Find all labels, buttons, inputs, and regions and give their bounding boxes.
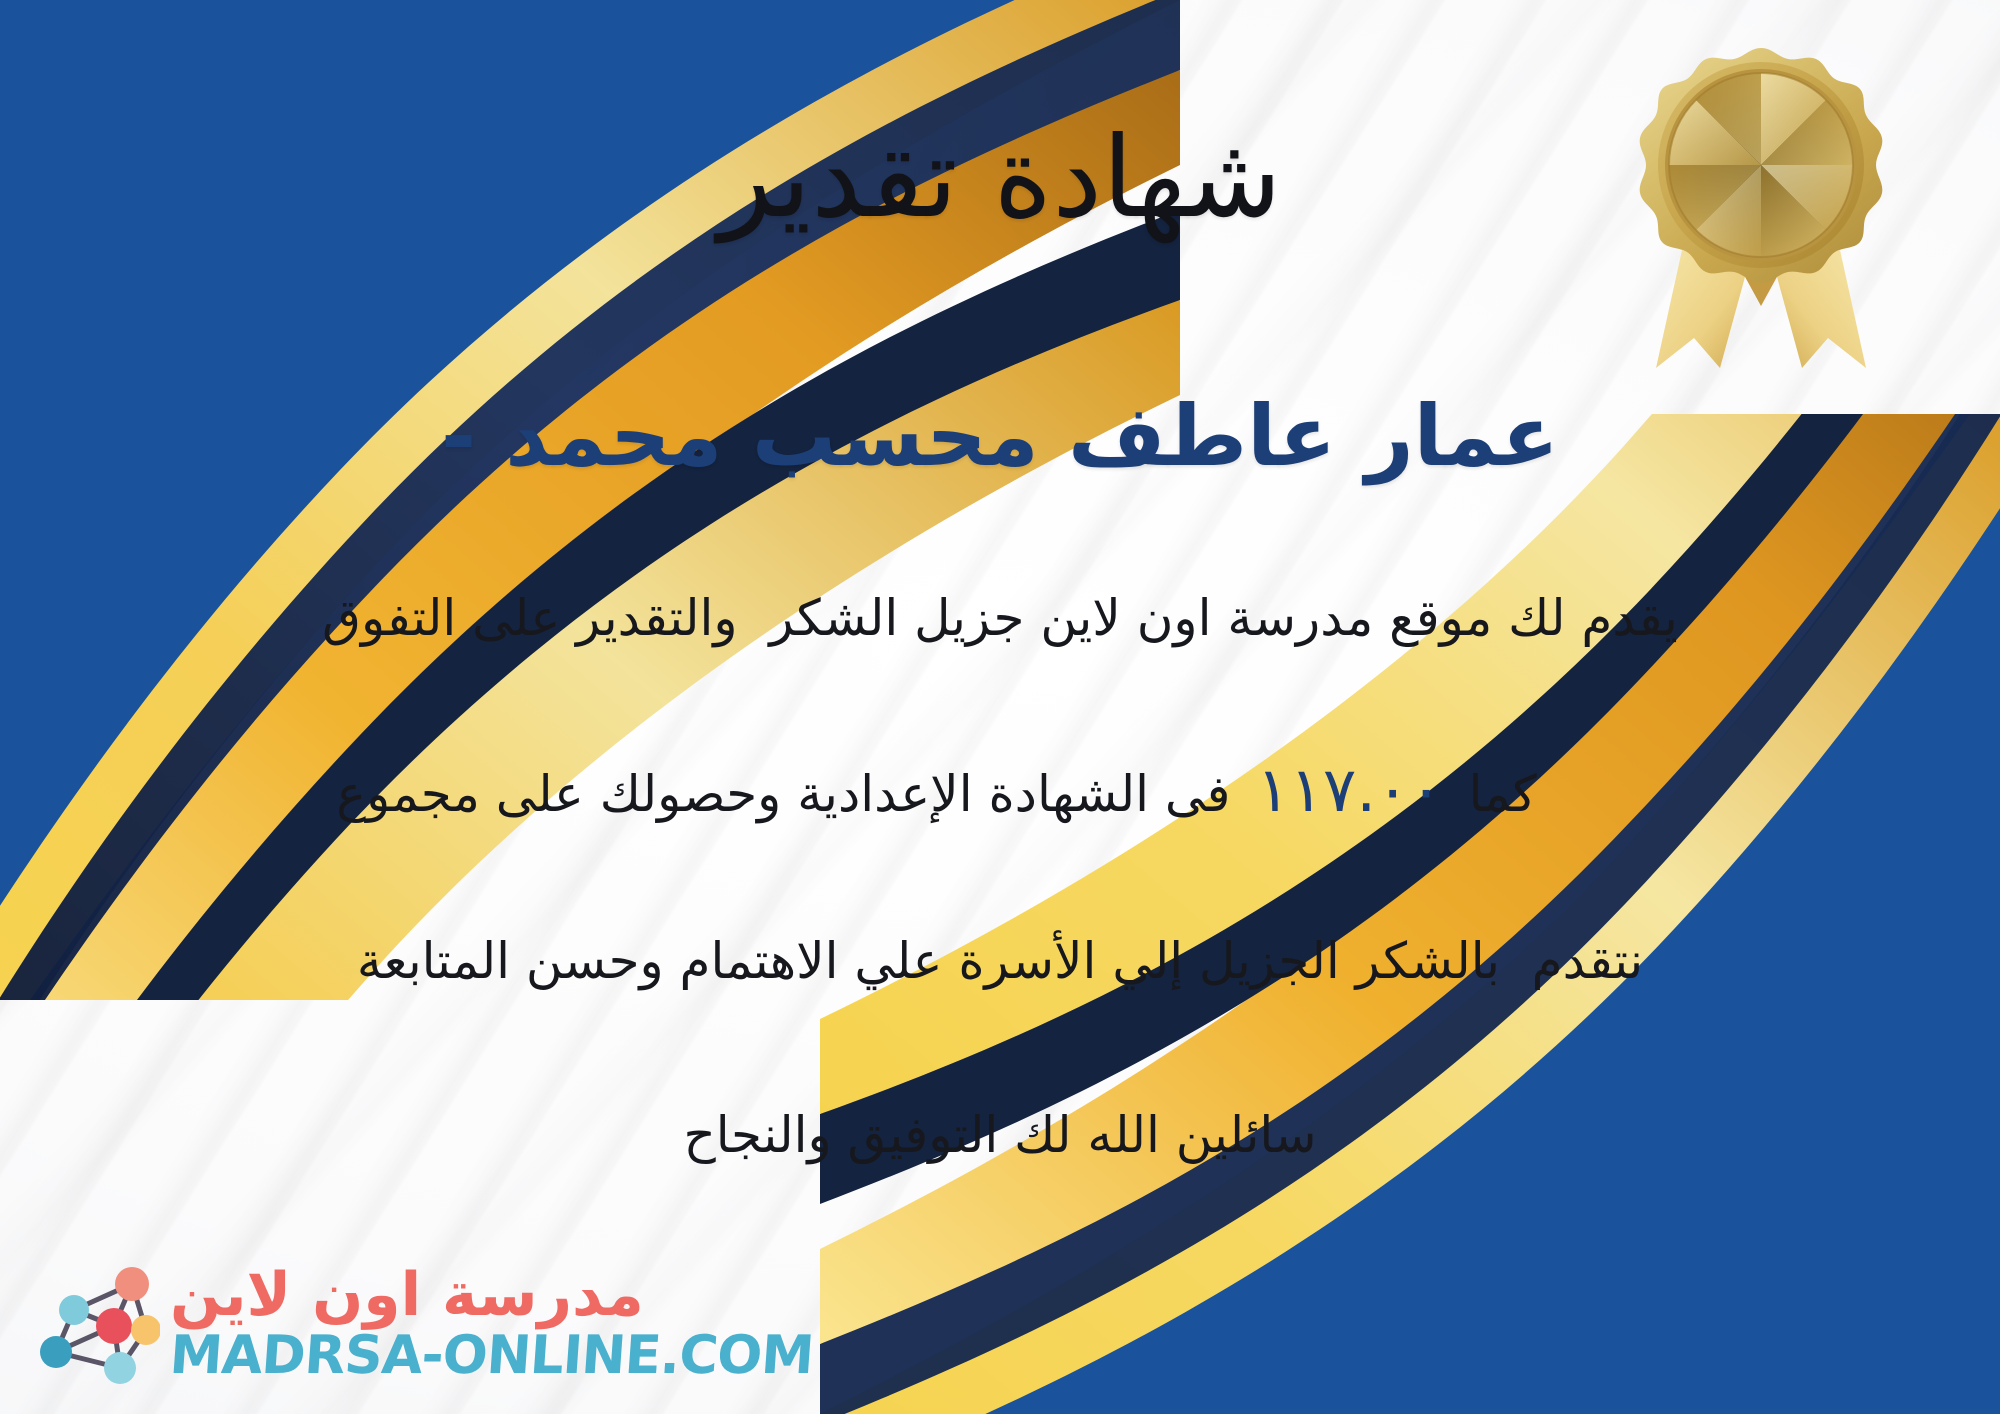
node-teal-left [59, 1295, 89, 1325]
medal-disc [1669, 73, 1853, 257]
certificate-body: يقدم لك موقع مدرسة اون لاين جزيل الشكر و… [80, 578, 1920, 1173]
page-title: شهادة تقدير [718, 120, 1281, 238]
node-red-center [96, 1308, 132, 1344]
recipient-name: عمار عاطف محسب محمد - [441, 390, 1559, 482]
network-nodes-icon [28, 1260, 160, 1386]
node-blue-bottomleft [40, 1336, 72, 1368]
body-line-3: نتقدم بالشكر الجزيل إلي الأسرة علي الاهت… [128, 921, 1872, 1002]
brand-arabic-name: مدرسة اون لاين [170, 1265, 644, 1325]
node-yellow-right [131, 1315, 160, 1345]
total-score-value: ١١٧.٠٠ [1230, 753, 1468, 826]
node-coral-top [115, 1267, 149, 1301]
body-line-2: كما١١٧.٠٠فى الشهادة الإعدادية وحصولك على… [128, 659, 1872, 921]
gold-award-rosette-icon [1620, 38, 1902, 368]
body-line-1: يقدم لك موقع مدرسة اون لاين جزيل الشكر و… [128, 578, 1872, 659]
node-lightteal-bottom [104, 1352, 136, 1384]
certificate-canvas: شهادة تقدير عمار عاطف محسب محمد - يقدم ل… [0, 0, 2000, 1414]
body-line-2-prefix: فى الشهادة الإعدادية وحصولك على مجموع [336, 765, 1230, 823]
brand-logo[interactable]: مدرسة اون لاين MADRSA-ONLINE.COM [28, 1260, 813, 1386]
brand-text: مدرسة اون لاين MADRSA-ONLINE.COM [170, 1265, 813, 1382]
closing-line: سائلين الله لك التوفيق والنجاح [128, 1098, 1872, 1173]
brand-website: MADRSA-ONLINE.COM [168, 1329, 815, 1382]
body-line-2-suffix: كما [1469, 765, 1537, 823]
